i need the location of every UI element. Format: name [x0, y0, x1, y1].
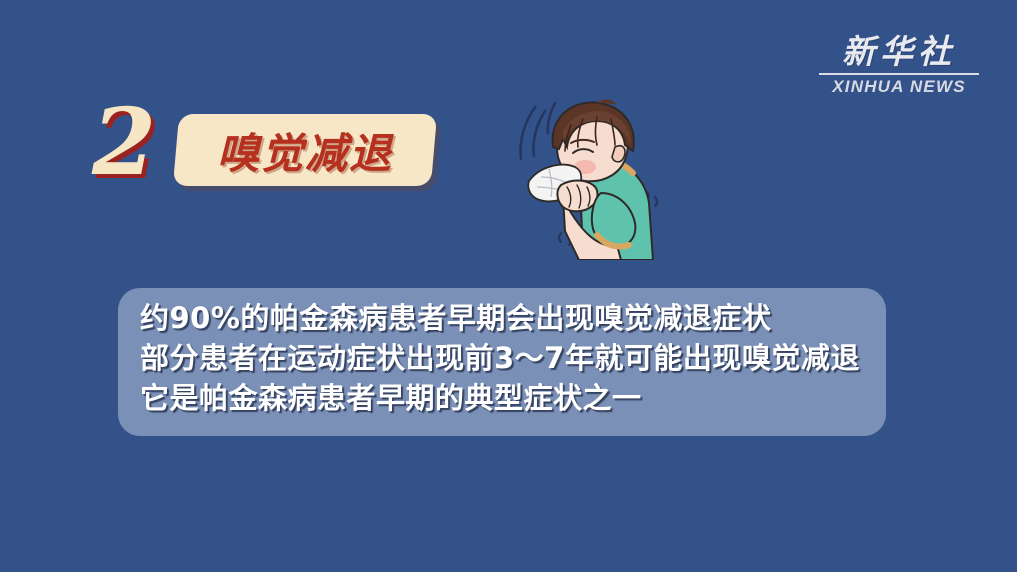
xinhua-news-logo: 新华社 XINHUA NEWS — [819, 34, 979, 97]
logo-english-text: XINHUA NEWS — [819, 77, 979, 97]
person-sneezing-illustration — [505, 85, 680, 260]
description-line-1: 约90%的帕金森病患者早期会出现嗅觉减退症状 — [140, 298, 900, 338]
title-banner: 嗅觉减退 — [173, 114, 437, 186]
section-number-badge: 2 — [92, 96, 156, 188]
description-line-2: 部分患者在运动症状出现前3～7年就可能出现嗅觉减退 — [140, 338, 900, 378]
title-text: 嗅觉减退 — [176, 114, 434, 186]
logo-chinese-text: 新华社 — [819, 34, 979, 70]
description-text-block: 约90%的帕金森病患者早期会出现嗅觉减退症状 部分患者在运动症状出现前3～7年就… — [140, 298, 900, 418]
description-line-3: 它是帕金森病患者早期的典型症状之一 — [140, 378, 900, 418]
person-sneezing-icon — [505, 85, 680, 260]
logo-divider — [819, 73, 979, 75]
slide-canvas: 新华社 XINHUA NEWS 2 嗅觉减退 — [0, 0, 1017, 572]
